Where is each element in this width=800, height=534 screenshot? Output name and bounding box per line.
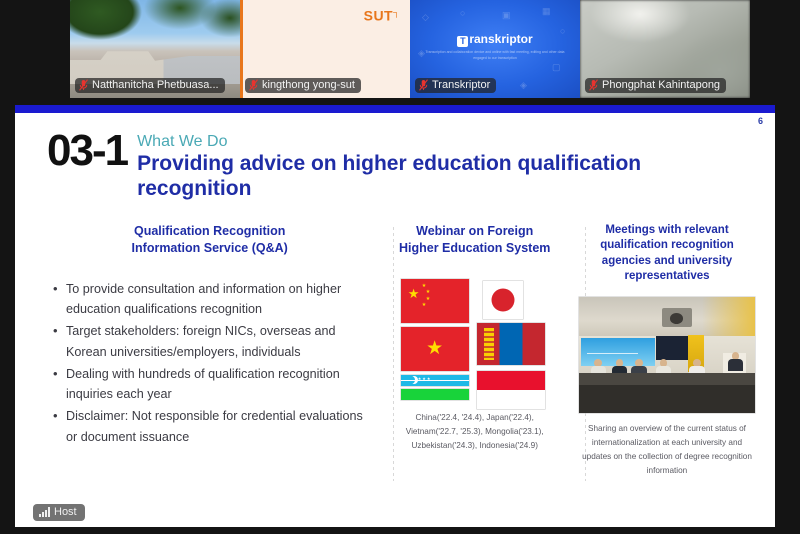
flag-uzbekistan-lower-band [401, 389, 469, 400]
sut-logo: SUT┐ [364, 7, 400, 24]
mic-muted-icon [249, 79, 258, 91]
soyombo-symbol [484, 328, 494, 360]
column-title-line: Webinar on Foreign [390, 223, 559, 240]
column-title: Webinar on Foreign Higher Education Syst… [390, 223, 559, 257]
shared-screen-area: 6 03-1 What We Do Providing advice on hi… [0, 98, 800, 534]
japan-disc [491, 288, 514, 311]
flag-japan [483, 281, 523, 319]
participant-tile-transkriptor[interactable]: ◇ ○ ▣ ▦ ○ ◈ ▢ ◈ Transkriptor Transcripti… [410, 0, 580, 98]
participant-tile-kingthong[interactable]: SUT┐ kingthong yong-sut [240, 0, 410, 98]
star-glyph: ★★★ [418, 376, 432, 381]
participant-name-badge: kingthong yong-sut [245, 78, 361, 93]
presentation-slide: 6 03-1 What We Do Providing advice on hi… [15, 105, 775, 527]
transkriptor-tagline: Transcription and collaboration device a… [424, 50, 566, 62]
list-item: To provide consultation and information … [51, 279, 368, 321]
column-title-line: Meetings with relevant [579, 223, 755, 238]
list-item: Disclaimer: Not responsible for credenti… [51, 406, 368, 448]
signal-bars-icon [39, 507, 50, 517]
star-glyph: ★ [422, 303, 426, 308]
flag-china: ★ ★ ★ ★ ★ [401, 279, 469, 323]
conference-table [579, 373, 755, 412]
column-title-line: Information Service (Q&A) [51, 240, 368, 257]
flag-group: ★ ★ ★ ★ ★ ★ [401, 279, 549, 399]
column-title-line: Qualification Recognition [51, 223, 368, 240]
participant-name-text: Natthanitcha Phetbuasa... [92, 79, 219, 91]
star-glyph: ★ [408, 287, 420, 300]
participant-name-badge: Natthanitcha Phetbuasa... [75, 78, 225, 93]
column-title-line: agencies and university [579, 254, 755, 269]
flag-mongolia [477, 323, 545, 365]
column-title-line: Higher Education System [390, 240, 559, 257]
participant-name-badge: Transkriptor [415, 78, 496, 93]
crescent-symbol [407, 376, 415, 384]
participant-name-text: Transkriptor [432, 79, 490, 91]
slide-top-accent-bar [15, 105, 775, 113]
ceiling-projector [662, 308, 692, 327]
star-glyph: ★ [422, 284, 426, 289]
column-qualification-recognition: Qualification Recognition Information Se… [33, 223, 382, 493]
standing-presenter [727, 352, 745, 371]
wall-monitor [656, 336, 691, 360]
zoom-meeting-screen: Natthanitcha Phetbuasa... SUT┐ kingthong… [0, 0, 800, 534]
participant-name-badge: Phongphat Kahintapong [585, 78, 726, 93]
column-title-line: representatives [579, 269, 755, 284]
video-strip-left-filler [0, 0, 70, 98]
participant-tile-natthanitcha[interactable]: Natthanitcha Phetbuasa... [70, 0, 240, 98]
page-title: Providing advice on higher education qua… [137, 151, 757, 202]
slide-page-number: 6 [758, 116, 763, 126]
column-title: Meetings with relevant qualification rec… [579, 223, 755, 285]
star-glyph: ★ [426, 290, 430, 295]
participant-name-text: Phongphat Kahintapong [602, 79, 720, 91]
mic-muted-icon [589, 79, 598, 91]
column-webinar: Webinar on Foreign Higher Education Syst… [382, 223, 567, 493]
flag-indonesia [477, 371, 545, 409]
slide-columns: Qualification Recognition Information Se… [33, 223, 761, 493]
flag-caption: China('22.4, '24.4), Japan('22.4), Vietn… [390, 411, 559, 453]
participant-name-text: kingthong yong-sut [262, 79, 355, 91]
video-strip-right-filler [750, 0, 800, 98]
star-glyph: ★ [426, 339, 443, 358]
transkriptor-logo-mark: T [457, 36, 468, 47]
slide-title-block: 03-1 What We Do Providing advice on high… [47, 131, 757, 202]
column-title-line: qualification recognition [579, 238, 755, 253]
column-title: Qualification Recognition Information Se… [51, 223, 368, 257]
star-glyph: ★ [426, 297, 430, 302]
column-meetings: Meetings with relevant qualification rec… [567, 223, 761, 493]
list-item: Target stakeholders: foreign NICs, overs… [51, 321, 368, 363]
transkriptor-brand: Transkriptor [410, 32, 580, 47]
status-badge: Host [33, 504, 85, 521]
flag-uzbekistan: ★★★ [401, 375, 469, 386]
participant-tile-phongphat[interactable]: Phongphat Kahintapong [580, 0, 750, 98]
section-number: 03-1 [47, 131, 127, 171]
photo-caption: Sharing an overview of the current statu… [579, 422, 755, 479]
host-label: Host [54, 506, 77, 518]
conference-room-photo [579, 297, 755, 413]
slide-eyebrow: What We Do [137, 134, 757, 151]
mic-muted-icon [79, 79, 88, 91]
video-thumbnail-strip: Natthanitcha Phetbuasa... SUT┐ kingthong… [0, 0, 800, 98]
mic-muted-icon [419, 79, 428, 91]
bullet-list: To provide consultation and information … [51, 279, 368, 448]
list-item: Dealing with hundreds of qualification r… [51, 364, 368, 406]
flag-vietnam: ★ [401, 327, 469, 371]
